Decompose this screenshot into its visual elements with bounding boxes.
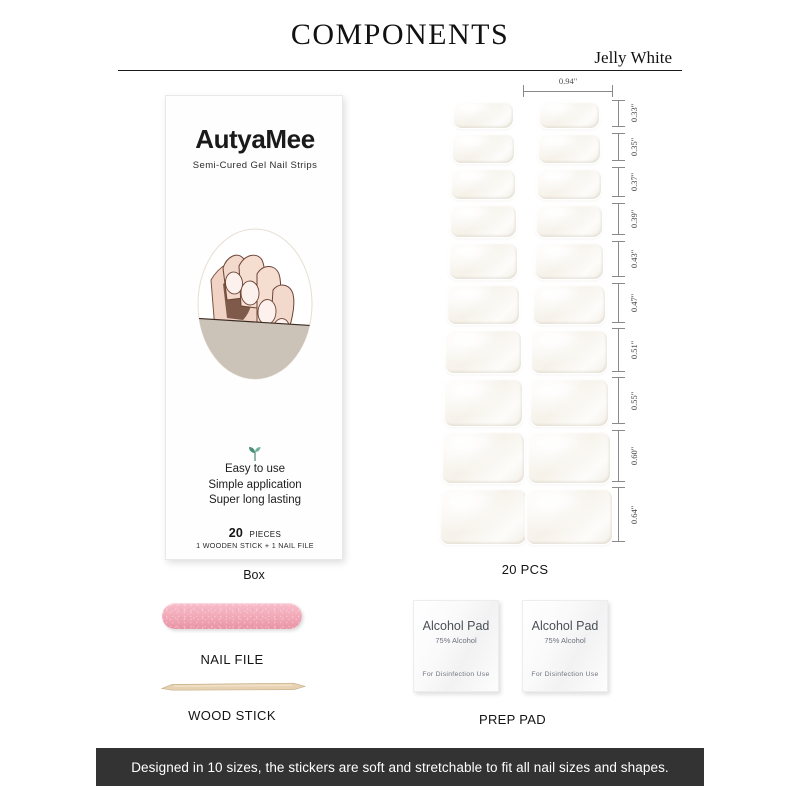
benefit-item: Easy to use bbox=[166, 462, 344, 478]
dimension-tick bbox=[612, 126, 625, 127]
dimension-tick bbox=[612, 203, 625, 204]
strip-size-dimension: 0.47" bbox=[614, 283, 654, 322]
box-caption: Box bbox=[165, 568, 343, 582]
strip-row bbox=[440, 283, 612, 326]
dimension-tick bbox=[612, 423, 625, 424]
piece-count-unit: PIECES bbox=[250, 530, 282, 539]
strip-cell bbox=[526, 430, 612, 485]
wood-stick bbox=[158, 680, 308, 694]
strip-size-dimension: 0.64" bbox=[614, 487, 654, 542]
nail-strip[interactable] bbox=[536, 205, 601, 237]
sheet-width-label: 0.94" bbox=[523, 76, 613, 86]
strip-size-label: 0.51" bbox=[629, 341, 639, 359]
dimension-line bbox=[618, 377, 619, 424]
nail-strip-sheet bbox=[440, 100, 612, 546]
hand-with-nails-illustration bbox=[193, 226, 317, 382]
benefit-list: Easy to use Simple application Super lon… bbox=[166, 462, 344, 509]
strip-cell bbox=[440, 377, 526, 427]
strip-cell bbox=[440, 203, 526, 239]
strip-cell bbox=[526, 241, 612, 280]
pad-subtitle: 75% Alcohol bbox=[523, 636, 607, 645]
strip-size-dimension: 0.33" bbox=[614, 100, 654, 127]
dimension-tick bbox=[612, 85, 613, 97]
strip-cell bbox=[440, 328, 526, 375]
pad-note: For Disinfection Use bbox=[523, 671, 607, 678]
strip-row bbox=[440, 133, 612, 165]
nail-strip[interactable] bbox=[530, 379, 609, 426]
dimension-line bbox=[618, 241, 619, 277]
nail-strip[interactable] bbox=[453, 102, 513, 129]
nail-strip[interactable] bbox=[538, 134, 600, 163]
dimension-tick bbox=[612, 234, 625, 235]
strip-row bbox=[440, 241, 612, 280]
piece-count: 20 PIECES bbox=[166, 524, 344, 542]
variant-name: Jelly White bbox=[594, 48, 672, 68]
strip-size-label: 0.37" bbox=[629, 173, 639, 191]
strip-row bbox=[440, 377, 612, 427]
nail-strip[interactable] bbox=[537, 169, 601, 199]
benefit-item: Super long lasting bbox=[166, 493, 344, 509]
strip-row bbox=[440, 100, 612, 130]
strip-size-dimension: 0.37" bbox=[614, 167, 654, 197]
product-box: AutyaMee Semi-Cured Gel Nail Strips bbox=[165, 95, 343, 560]
strip-size-dimensions: 0.33"0.35"0.37"0.39"0.43"0.47"0.51"0.55"… bbox=[614, 100, 654, 546]
nail-strip[interactable] bbox=[451, 169, 515, 199]
strip-size-dimension: 0.51" bbox=[614, 328, 654, 371]
nail-strip[interactable] bbox=[447, 285, 519, 324]
nail-strip[interactable] bbox=[452, 134, 514, 163]
strip-size-dimension: 0.55" bbox=[614, 377, 654, 424]
nail-strip[interactable] bbox=[445, 330, 520, 373]
strip-row bbox=[440, 203, 612, 239]
strip-cell bbox=[440, 167, 526, 201]
strip-cell bbox=[526, 377, 612, 427]
strip-row bbox=[440, 430, 612, 485]
footer-text: Designed in 10 sizes, the stickers are s… bbox=[131, 760, 669, 775]
dimension-tick bbox=[612, 241, 625, 242]
strip-cell bbox=[440, 430, 526, 485]
strip-cell bbox=[526, 203, 612, 239]
strip-cell bbox=[440, 241, 526, 280]
nail-strip[interactable] bbox=[440, 489, 526, 544]
strip-size-label: 0.64" bbox=[629, 506, 639, 524]
dimension-line bbox=[618, 487, 619, 542]
page-title: COMPONENTS bbox=[0, 18, 800, 52]
nail-strip[interactable] bbox=[450, 205, 515, 237]
strip-cell bbox=[526, 283, 612, 326]
strip-size-dimension: 0.35" bbox=[614, 133, 654, 162]
strip-size-label: 0.60" bbox=[629, 447, 639, 465]
strip-row bbox=[440, 167, 612, 201]
strip-size-label: 0.43" bbox=[629, 250, 639, 268]
strip-cell bbox=[526, 100, 612, 130]
strip-sheet-caption: 20 PCS bbox=[420, 562, 630, 577]
dimension-tick bbox=[612, 487, 625, 488]
nail-strip[interactable] bbox=[528, 432, 611, 483]
dimension-tick bbox=[612, 160, 625, 161]
dimension-tick bbox=[612, 283, 625, 284]
strip-size-label: 0.33" bbox=[629, 104, 639, 122]
dimension-tick bbox=[612, 276, 625, 277]
dimension-line bbox=[618, 133, 619, 162]
nail-file bbox=[162, 603, 302, 629]
nail-strip[interactable] bbox=[533, 285, 605, 324]
dimension-tick bbox=[612, 371, 625, 372]
strip-size-label: 0.47" bbox=[629, 294, 639, 312]
strip-size-label: 0.55" bbox=[629, 392, 639, 410]
dimension-tick bbox=[612, 541, 625, 542]
pad-note: For Disinfection Use bbox=[414, 671, 498, 678]
footer-banner: Designed in 10 sizes, the stickers are s… bbox=[96, 748, 704, 786]
strip-size-label: 0.39" bbox=[629, 210, 639, 228]
sprout-icon bbox=[166, 444, 344, 462]
header-divider bbox=[118, 70, 682, 71]
strip-row bbox=[440, 328, 612, 375]
strip-size-label: 0.35" bbox=[629, 138, 639, 156]
strip-cell bbox=[526, 167, 612, 201]
dimension-tick bbox=[612, 133, 625, 134]
strip-cell bbox=[440, 487, 526, 546]
prep-pad-caption: PREP PAD bbox=[400, 712, 625, 727]
nail-strip[interactable] bbox=[449, 243, 518, 279]
strip-row bbox=[440, 487, 612, 546]
strip-cell bbox=[526, 487, 612, 546]
strip-size-dimension: 0.39" bbox=[614, 203, 654, 235]
strip-cell bbox=[526, 328, 612, 375]
dimension-line bbox=[618, 430, 619, 481]
brand-name: AutyaMee bbox=[166, 124, 344, 155]
dimension-line bbox=[618, 203, 619, 235]
strip-size-dimension: 0.43" bbox=[614, 241, 654, 277]
pad-title: Alcohol Pad bbox=[414, 619, 498, 633]
dimension-tick bbox=[612, 430, 625, 431]
dimension-line bbox=[618, 100, 619, 127]
dimension-line bbox=[618, 328, 619, 371]
pad-subtitle: 75% Alcohol bbox=[414, 636, 498, 645]
nail-strip[interactable] bbox=[444, 379, 523, 426]
dimension-line bbox=[618, 167, 619, 197]
strip-cell bbox=[440, 133, 526, 165]
pad-title: Alcohol Pad bbox=[523, 619, 607, 633]
strip-cell bbox=[440, 283, 526, 326]
alcohol-pad-packet: Alcohol Pad 75% Alcohol For Disinfection… bbox=[522, 600, 608, 692]
alcohol-pad-packet: Alcohol Pad 75% Alcohol For Disinfection… bbox=[413, 600, 499, 692]
wood-stick-caption: WOOD STICK bbox=[152, 708, 312, 723]
strip-cell bbox=[440, 100, 526, 130]
strip-size-dimension: 0.60" bbox=[614, 430, 654, 481]
nail-file-caption: NAIL FILE bbox=[152, 652, 312, 667]
sheet-width-dimension: 0.94" bbox=[523, 76, 613, 98]
nail-strip[interactable] bbox=[526, 489, 612, 544]
nail-strip[interactable] bbox=[531, 330, 606, 373]
dimension-line bbox=[618, 283, 619, 322]
dimension-tick bbox=[612, 167, 625, 168]
benefit-item: Simple application bbox=[166, 478, 344, 494]
dimension-tick bbox=[612, 377, 625, 378]
strip-cell bbox=[526, 133, 612, 165]
dimension-tick bbox=[523, 85, 524, 97]
dimension-tick bbox=[612, 196, 625, 197]
piece-count-number: 20 bbox=[229, 526, 243, 540]
dimension-tick bbox=[612, 481, 625, 482]
nail-strip[interactable] bbox=[539, 102, 599, 129]
box-accessories-text: 1 WOODEN STICK + 1 NAIL FILE bbox=[166, 541, 344, 550]
brand-tagline: Semi-Cured Gel Nail Strips bbox=[166, 160, 344, 171]
dimension-line bbox=[523, 91, 613, 92]
dimension-tick bbox=[612, 100, 625, 101]
nail-strip[interactable] bbox=[442, 432, 525, 483]
dimension-tick bbox=[612, 322, 625, 323]
dimension-tick bbox=[612, 328, 625, 329]
nail-strip[interactable] bbox=[535, 243, 604, 279]
